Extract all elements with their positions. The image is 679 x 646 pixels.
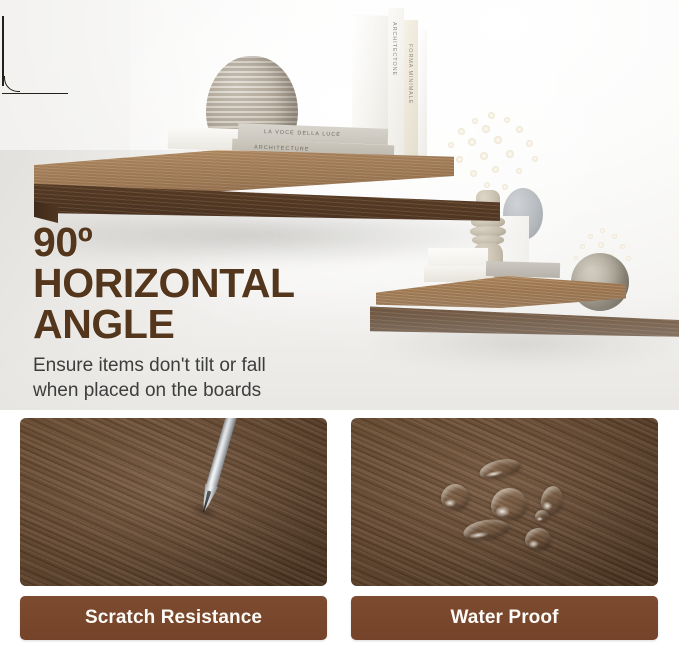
page-title: 90º HORIZONTAL ANGLE: [33, 222, 363, 345]
book-spine-la-voce: LA VOCE DELLA LUCE: [264, 129, 341, 138]
feature-water-proof: Water Proof: [351, 418, 658, 640]
hero-copy-block: 90º HORIZONTAL ANGLE Ensure items don't …: [33, 222, 363, 403]
hero-subcopy: Ensure items don't tilt or fall when pla…: [33, 353, 363, 403]
scratch-resistance-photo: [20, 418, 327, 586]
shelf-lower-top-grain: [376, 276, 626, 308]
feature-scratch-resistance: Scratch Resistance: [20, 418, 327, 640]
floating-shelf-lower: [370, 276, 679, 372]
right-angle-guide-icon: [2, 16, 72, 94]
photo-vignette: [351, 418, 658, 586]
headline-line-1: 90º: [33, 222, 363, 263]
headline-line-3: ANGLE: [33, 304, 363, 345]
subcopy-line-2: when placed on the boards: [33, 378, 363, 403]
book-cream-tall: FORMA MINIMALE: [404, 20, 418, 166]
book-slim-tall: [418, 30, 427, 166]
subcopy-line-1: Ensure items don't tilt or fall: [33, 353, 363, 378]
feature-label-waterproof: Water Proof: [351, 596, 658, 640]
headline-line-2: HORIZONTAL: [33, 263, 363, 304]
feature-label-scratch: Scratch Resistance: [20, 596, 327, 640]
book-spine-vertical-2: FORMA MINIMALE: [407, 44, 413, 104]
book-spine-vertical-1: ARCHITECTONE: [391, 22, 397, 76]
photo-vignette: [20, 418, 327, 586]
shelf-upper-top-grain: [34, 150, 454, 192]
product-infographic: ARCHITECTONE FORMA MINIMALE LA VOCE DELL…: [0, 0, 679, 646]
water-proof-photo: [351, 418, 658, 586]
book-white-tall-2: ARCHITECTONE: [388, 8, 404, 166]
hero-scene: ARCHITECTONE FORMA MINIMALE LA VOCE DELL…: [0, 0, 679, 410]
feature-panels: Scratch Resistance Water Proof: [20, 418, 659, 640]
